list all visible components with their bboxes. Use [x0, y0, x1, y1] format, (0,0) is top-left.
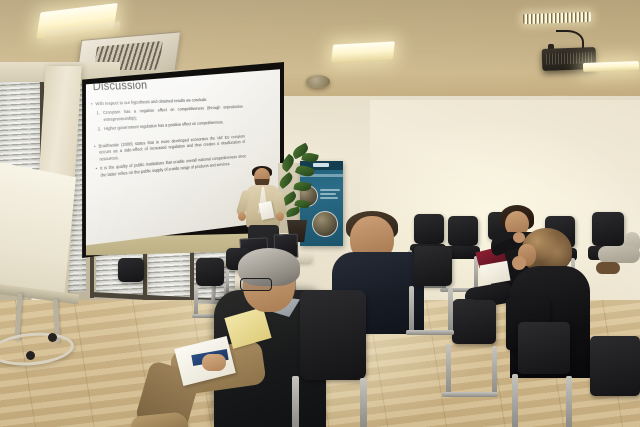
- audience-member-far-right: [598, 232, 640, 294]
- eyeglasses: [240, 278, 272, 291]
- chair-frame-rail: [409, 286, 414, 334]
- person-shoe: [596, 262, 620, 274]
- caster-wheel: [26, 351, 35, 360]
- banner-text-line: [320, 193, 336, 195]
- plant-leaf: [295, 163, 315, 179]
- plant-leaf: [301, 151, 319, 164]
- person-leg: [598, 246, 640, 263]
- person-hand: [512, 256, 526, 270]
- chair-frame-rail: [448, 288, 453, 334]
- caster-wheel: [48, 333, 57, 342]
- conference-room-photo: Discussion • With respect to our hypothe…: [0, 0, 640, 427]
- presenter-right-hand: [276, 212, 284, 221]
- chair-frame-rail: [292, 376, 299, 427]
- chair-frame-rail: [442, 392, 498, 397]
- bullet-marker: 1.: [96, 110, 100, 124]
- chair-back: [452, 300, 496, 344]
- plant-leaf: [293, 181, 311, 193]
- chair-back: [118, 258, 144, 282]
- slide-body: • With respect to our hypothesis and obt…: [91, 96, 247, 182]
- bullet-marker: 2.: [98, 126, 102, 133]
- chair-frame-rail: [566, 376, 572, 427]
- bullet-marker: •: [94, 143, 97, 163]
- chair-back: [590, 336, 640, 396]
- chair-frame-rail: [406, 330, 454, 335]
- banner-text-line: [320, 189, 340, 191]
- chair-back: [448, 216, 478, 246]
- fluorescent-tube-light: [331, 41, 395, 62]
- presentation-slide: Discussion • With respect to our hypothe…: [82, 67, 261, 250]
- chair-back: [414, 246, 452, 286]
- chair-frame-rail: [492, 346, 497, 396]
- flipchart-paper: [0, 155, 76, 295]
- chair-frame-rail: [512, 374, 518, 427]
- chair-back: [300, 290, 366, 380]
- flipchart-base: [0, 329, 75, 368]
- person-hand: [202, 354, 226, 371]
- bullet-marker: •: [91, 101, 93, 108]
- ceiling-speaker: [306, 75, 330, 88]
- chair-back: [518, 322, 570, 374]
- presenter-left-hand: [238, 212, 246, 221]
- chair-frame-rail: [360, 378, 367, 427]
- flipchart-easel: [0, 155, 88, 365]
- bullet-marker: •: [96, 166, 98, 180]
- banner-text-line: [320, 197, 338, 199]
- chair-frame-rail: [446, 344, 451, 396]
